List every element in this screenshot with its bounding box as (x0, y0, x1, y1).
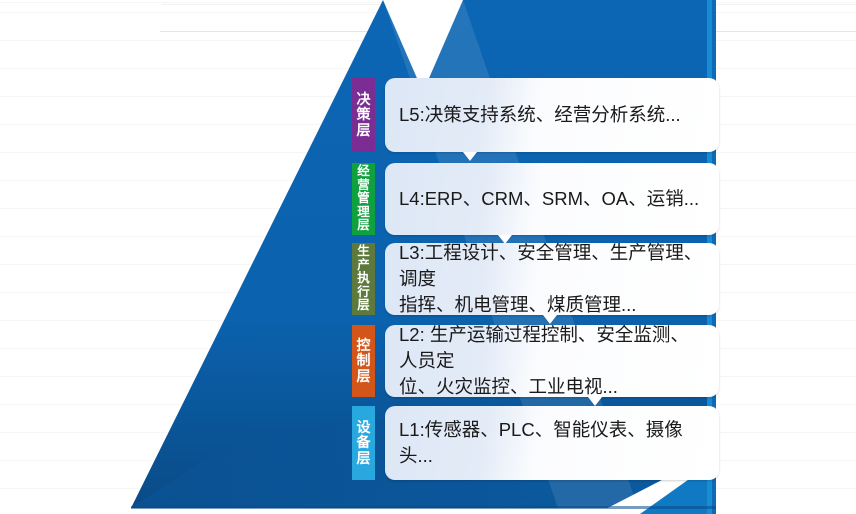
tab-char: 备 (357, 435, 371, 450)
level-tab-l5: 决 策 层 (352, 78, 375, 152)
flow-arrow-l2-l1 (588, 397, 602, 406)
tab-char: 经 (357, 165, 370, 179)
level-tab-l3: 生 产 执 行 层 (352, 243, 375, 315)
tab-char: 管 (357, 192, 370, 206)
level-text-l2: L2: 生产运输过程控制、安全监测、人员定 位、火灾监控、工业电视... (399, 322, 705, 401)
tab-char: 决 (357, 92, 371, 107)
tab-char: 层 (357, 123, 371, 138)
level-row-l1[interactable]: 设 备 层 L1:传感器、PLC、智能仪表、摄像头... (352, 406, 719, 480)
diagram-canvas: 决 策 层 L5:决策支持系统、经营分析系统... 经 营 管 理 层 L4:E… (0, 0, 856, 514)
tab-char: 层 (357, 219, 370, 233)
level-card-l1[interactable]: L1:传感器、PLC、智能仪表、摄像头... (385, 406, 719, 480)
tab-char: 控 (357, 338, 371, 353)
flow-arrow-l5-l4 (463, 152, 477, 161)
level-text-l4: L4:ERP、CRM、SRM、OA、运销... (399, 186, 699, 212)
tab-char: 策 (357, 107, 371, 122)
tab-char: 层 (357, 299, 370, 313)
level-card-l3[interactable]: L3:工程设计、安全管理、生产管理、调度 指挥、机电管理、煤质管理... (385, 243, 719, 315)
tab-char: 设 (357, 420, 371, 435)
tab-char: 制 (357, 353, 371, 368)
level-rows: 决 策 层 L5:决策支持系统、经营分析系统... 经 营 管 理 层 L4:E… (0, 0, 856, 514)
level-text-l3-line1: L3:工程设计、安全管理、生产管理、调度 (399, 242, 702, 289)
level-tab-l4: 经 营 管 理 层 (352, 163, 375, 235)
level-tab-l2: 控 制 层 (352, 325, 375, 397)
tab-char: 层 (357, 451, 371, 466)
level-text-l3-line2: 指挥、机电管理、煤质管理... (399, 294, 636, 315)
level-text-l3: L3:工程设计、安全管理、生产管理、调度 指挥、机电管理、煤质管理... (399, 240, 705, 319)
tab-char: 理 (357, 206, 370, 220)
tab-char: 执 (357, 272, 370, 286)
tab-char: 层 (357, 369, 371, 384)
level-tab-l1: 设 备 层 (352, 406, 375, 480)
level-row-l5[interactable]: 决 策 层 L5:决策支持系统、经营分析系统... (352, 78, 719, 152)
level-text-l2-line1: L2: 生产运输过程控制、安全监测、人员定 (399, 324, 689, 371)
level-card-l5[interactable]: L5:决策支持系统、经营分析系统... (385, 78, 719, 152)
level-text-l5: L5:决策支持系统、经营分析系统... (399, 102, 681, 128)
level-card-l2[interactable]: L2: 生产运输过程控制、安全监测、人员定 位、火灾监控、工业电视... (385, 325, 719, 397)
level-card-l4[interactable]: L4:ERP、CRM、SRM、OA、运销... (385, 163, 719, 235)
level-row-l4[interactable]: 经 营 管 理 层 L4:ERP、CRM、SRM、OA、运销... (352, 163, 719, 235)
level-text-l2-line2: 位、火灾监控、工业电视... (399, 376, 618, 397)
tab-char: 行 (357, 286, 370, 300)
level-text-l1: L1:传感器、PLC、智能仪表、摄像头... (399, 417, 705, 470)
tab-char: 生 (357, 245, 370, 259)
level-row-l2[interactable]: 控 制 层 L2: 生产运输过程控制、安全监测、人员定 位、火灾监控、工业电视.… (352, 325, 719, 397)
level-row-l3[interactable]: 生 产 执 行 层 L3:工程设计、安全管理、生产管理、调度 指挥、机电管理、煤… (352, 243, 719, 315)
